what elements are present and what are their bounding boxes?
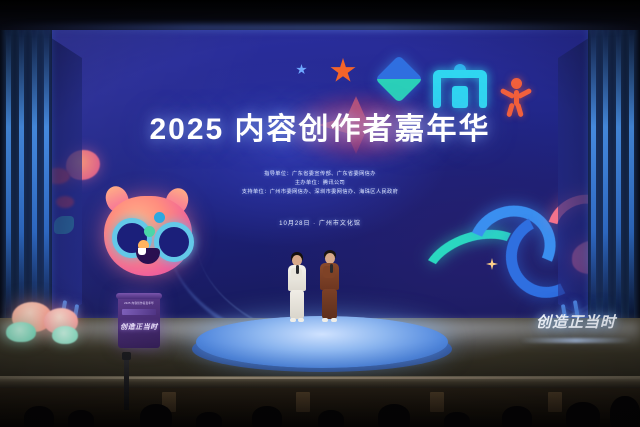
mascot-tooth: [138, 248, 146, 255]
event-title: 2025 内容创作者嘉年华: [0, 104, 640, 148]
arch-bar-left: [433, 74, 441, 108]
microphone-icon: [330, 264, 333, 273]
podium-lectern: 2025 内容创作者嘉年华 创造正当时: [118, 296, 160, 348]
led-column: [603, 22, 608, 322]
podium-header-text: 2025 内容创作者嘉年华: [121, 301, 157, 306]
podium-logo-text: 创造正当时: [118, 322, 160, 332]
audience-silhouette: [566, 402, 600, 427]
host-shoe-right: [331, 318, 337, 322]
host-shoe-left: [322, 318, 328, 322]
audience-silhouette: [252, 406, 282, 427]
auditorium-door: [296, 392, 310, 412]
led-column: [616, 22, 621, 322]
arch-bar-right: [479, 74, 487, 108]
figure-arm-left: [500, 88, 516, 99]
light-stand-pole: [124, 356, 129, 410]
organizer-line-support: 支持单位：广州市委网信办、深圳市委网信办、海珠区人民政府: [0, 188, 640, 197]
audience-silhouette: [24, 406, 54, 427]
stage-apron-edge-light: [0, 377, 640, 379]
host-arms: [323, 266, 335, 278]
host-shoe-left: [290, 318, 296, 322]
audience-silhouette: [610, 396, 640, 427]
audience-silhouette: [378, 404, 410, 427]
auditorium-door: [430, 392, 444, 412]
mascot-eye-right: [154, 222, 194, 262]
led-column: [19, 22, 24, 322]
organizer-line-host: 主办单位：腾讯公司: [0, 179, 640, 188]
organizer-line-guidance: 指导单位：广东省委宣传部、广东省委网信办: [0, 170, 640, 179]
audience-silhouette: [196, 412, 222, 427]
figure-arm-right: [517, 88, 533, 99]
stage-photo: 2025 内容创作者嘉年华 指导单位：广东省委宣传部、广东省委网信办 主办单位：…: [0, 0, 640, 427]
light-stand-top: [122, 352, 131, 360]
arch-gate-icon: [430, 64, 490, 108]
podium-accent-bar: [122, 309, 156, 315]
host-male: [316, 250, 342, 324]
host-female: [283, 252, 309, 324]
led-column: [6, 22, 11, 322]
audience-silhouette: [444, 412, 470, 427]
led-column: [591, 22, 596, 322]
audience-silhouette: [502, 406, 532, 427]
organizer-block: 指导单位：广东省委宣传部、广东省委网信办 主办单位：腾讯公司 支持单位：广州市委…: [0, 170, 640, 197]
led-column: [44, 22, 49, 322]
figure-head: [511, 78, 522, 89]
floor-cloud-prop: [6, 322, 36, 342]
audience-silhouette: [318, 410, 344, 427]
calligraphy-slogan: 创造正当时: [524, 306, 628, 340]
audience-silhouette: [68, 410, 94, 427]
audience-silhouette: [140, 404, 172, 427]
host-legs: [290, 290, 304, 319]
microphone-icon: [296, 265, 299, 274]
date-venue-line: 10月28日 · 广州市文化馆: [0, 218, 640, 227]
mascot-dot-green: [144, 226, 155, 237]
podium-top-surface: [116, 293, 162, 299]
mascot-lion-head-icon: [92, 182, 204, 286]
led-column: [629, 22, 634, 322]
auditorium-door: [548, 392, 562, 412]
floor-cloud-prop: [52, 326, 78, 344]
host-shoe-right: [298, 318, 304, 322]
led-column: [32, 22, 37, 322]
ceiling-light-glow: [0, 24, 640, 32]
host-legs: [322, 289, 337, 319]
